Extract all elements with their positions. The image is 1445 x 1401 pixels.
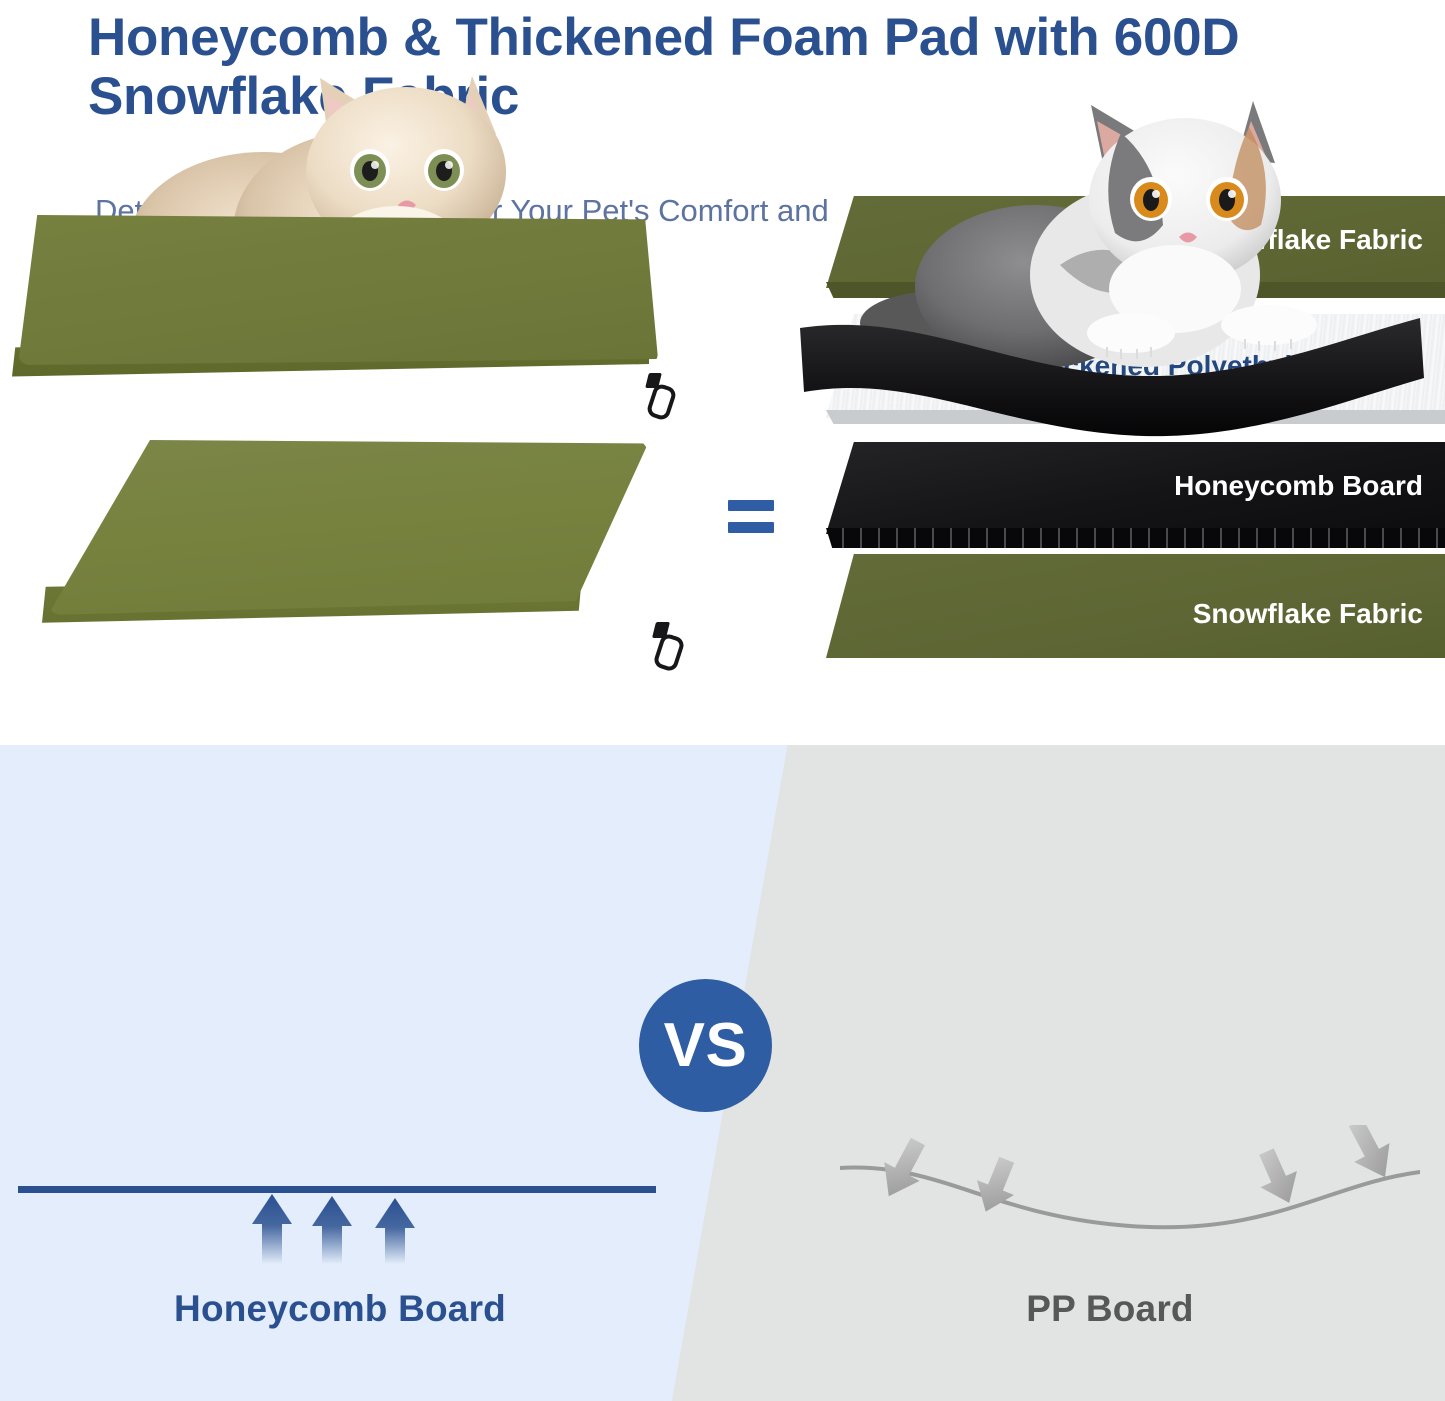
layer-snowflake-fabric-bottom: Snowflake Fabric (826, 554, 1445, 666)
pad-top-surface (48, 440, 648, 615)
mat-pp-board (790, 300, 1430, 440)
layer-label: Snowflake Fabric (1193, 598, 1423, 630)
honeycomb-cells-icon (826, 528, 1445, 548)
zipper-icon (652, 622, 678, 664)
label-honeycomb-board: Honeycomb Board (0, 1288, 680, 1330)
downward-pressure-arrows (850, 1125, 1410, 1235)
layer-honeycomb-board: Honeycomb Board (826, 442, 1445, 570)
upward-support-arrows (250, 1194, 430, 1264)
equals-sign-icon (728, 500, 774, 536)
product-pad-figure (20, 430, 700, 680)
mat-top-surface (18, 215, 658, 365)
mat-honeycomb-board (8, 215, 668, 405)
rigid-surface-line (18, 1186, 656, 1193)
label-pp-board: PP Board (800, 1288, 1420, 1330)
zipper-icon (646, 373, 670, 415)
vs-label: VS (664, 1015, 748, 1077)
product-infographic: Honeycomb & Thickened Foam Pad with 600D… (0, 0, 1445, 1401)
layer-label: Honeycomb Board (1174, 470, 1423, 502)
vs-badge: VS (639, 979, 772, 1112)
